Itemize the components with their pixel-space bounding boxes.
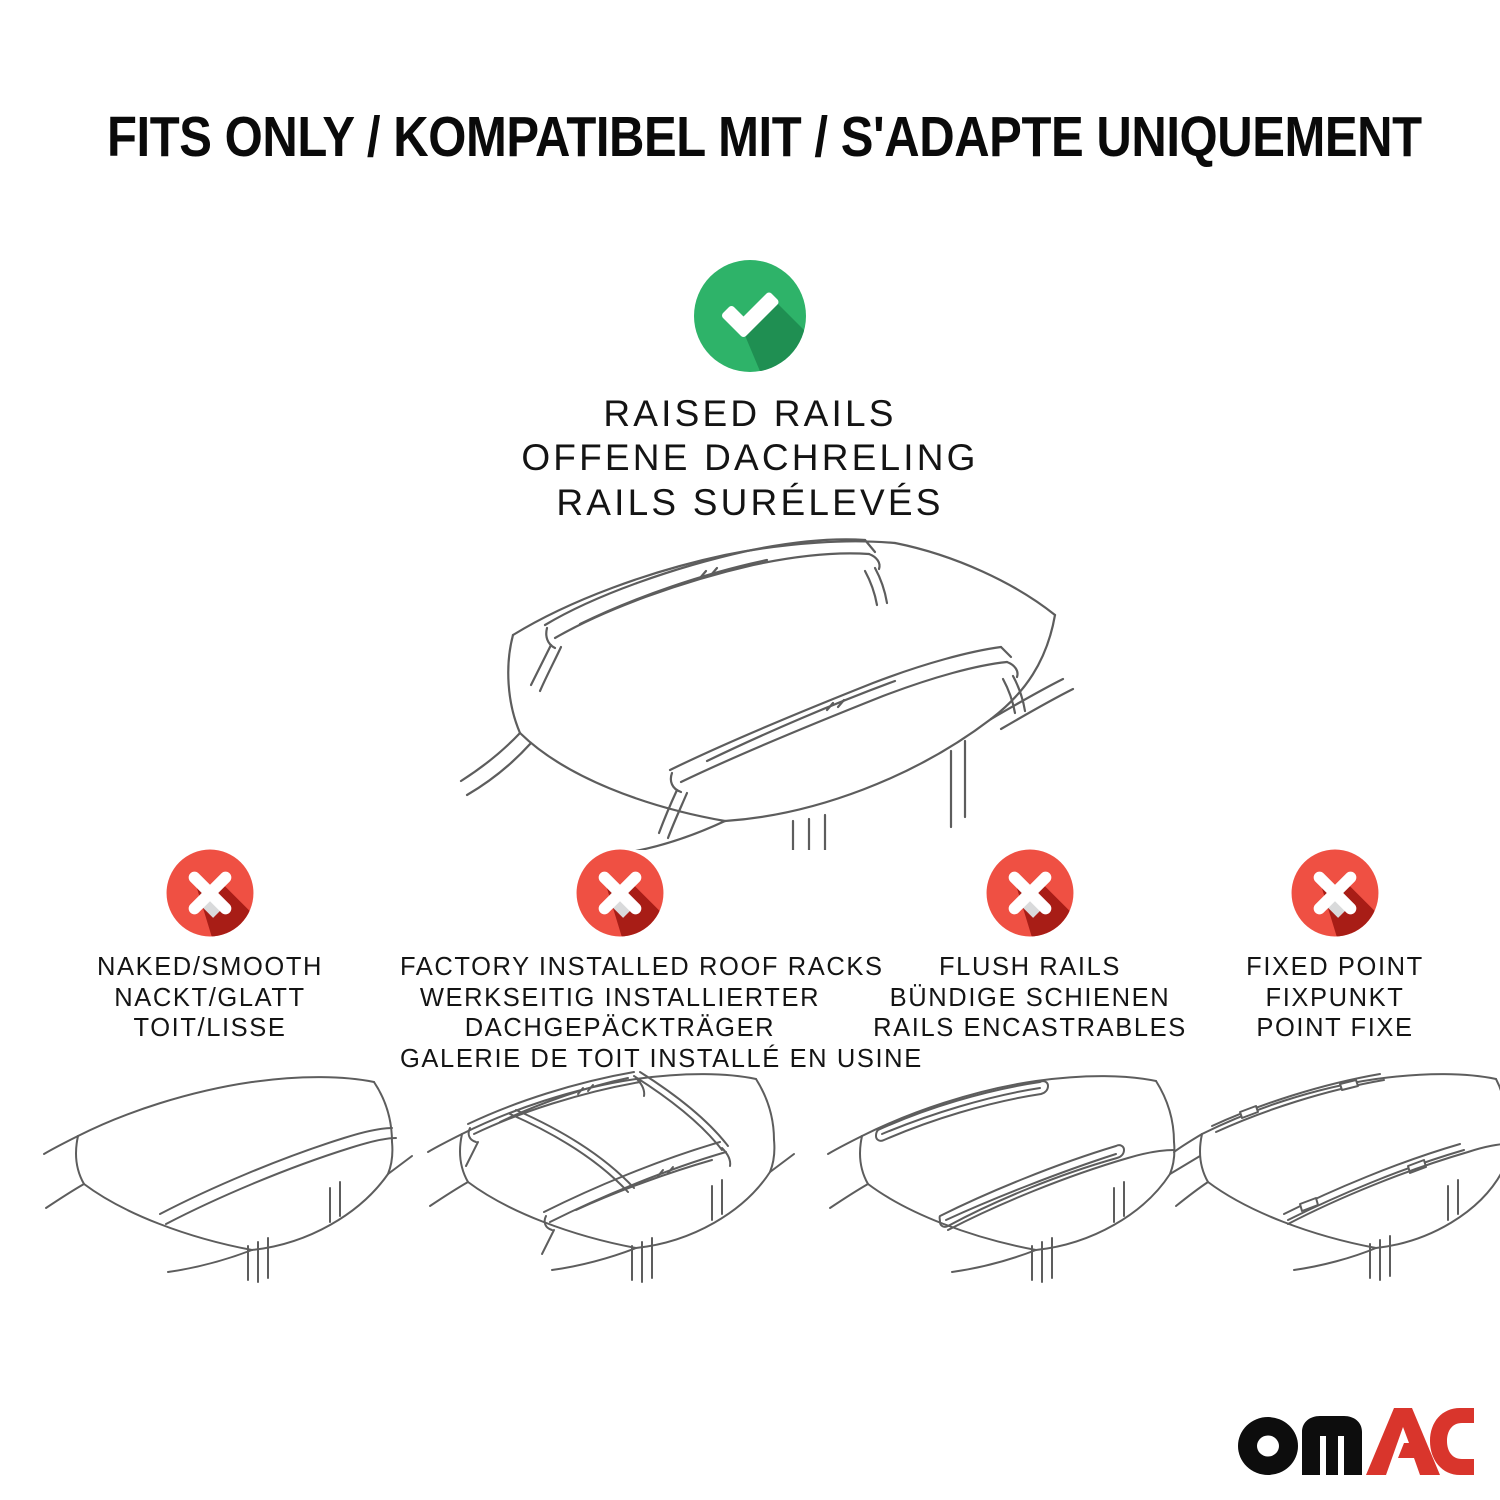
- column-caption: FACTORY INSTALLED ROOF RACKS WERKSEITIG …: [400, 952, 840, 1074]
- caption-line-fr: TOIT/LISSE: [25, 1013, 395, 1044]
- page-title-text: FITS ONLY / KOMPATIBEL MIT / S'ADAPTE UN…: [107, 104, 1422, 170]
- logo-letter-m: [1302, 1416, 1362, 1475]
- incompatible-row: NAKED/SMOOTH NACKT/GLATT TOIT/LISSE: [0, 848, 1500, 1088]
- car-roof-factory-crossbars-illustration: [420, 1058, 805, 1293]
- car-roof-raised-rails-illustration: [395, 505, 1105, 850]
- caption-line-en: NAKED/SMOOTH: [25, 952, 395, 983]
- caption-line-en: FACTORY INSTALLED ROOF RACKS: [400, 952, 840, 983]
- caption-line-de: OFFENE DACHRELING: [370, 436, 1130, 480]
- car-roof-flush-rails-illustration: [822, 1058, 1207, 1293]
- caption-line-de: NACKT/GLATT: [25, 983, 395, 1014]
- incompatible-column-factory-racks: FACTORY INSTALLED ROOF RACKS WERKSEITIG …: [400, 848, 840, 1074]
- check-circle-badge: [370, 258, 1130, 374]
- incompatible-column-fixed-point: FIXED POINT FIXPUNKT POINT FIXE: [1190, 848, 1480, 1044]
- compatible-block: RAISED RAILS OFFENE DACHRELING RAILS SUR…: [370, 258, 1130, 525]
- cross-circle-badge: [400, 848, 840, 938]
- omac-logo: [1238, 1406, 1474, 1476]
- cross-circle-icon: [1290, 848, 1380, 938]
- car-roof-bare-illustration: [40, 1058, 415, 1293]
- caption-line-de: FIXPUNKT: [1190, 983, 1480, 1014]
- cross-circle-icon: [575, 848, 665, 938]
- caption-line-de: BÜNDIGE SCHIENEN: [845, 983, 1215, 1014]
- cross-circle-badge: [1190, 848, 1480, 938]
- check-circle-icon: [692, 258, 808, 374]
- caption-line-fr: RAILS ENCASTRABLES: [845, 1013, 1215, 1044]
- caption-line-de-1: WERKSEITIG INSTALLIERTER: [400, 983, 840, 1014]
- caption-line-en: FIXED POINT: [1190, 952, 1480, 983]
- page-title: FITS ONLY / KOMPATIBEL MIT / S'ADAPTE UN…: [0, 104, 1500, 170]
- caption-line-en: FLUSH RAILS: [845, 952, 1215, 983]
- car-roof-fixed-points-illustration: [1172, 1058, 1500, 1293]
- column-caption: NAKED/SMOOTH NACKT/GLATT TOIT/LISSE: [25, 952, 395, 1044]
- logo-letter-a: [1366, 1408, 1440, 1475]
- caption-line-de-2: DACHGEPÄCKTRÄGER: [400, 1013, 840, 1044]
- incompatible-column-naked-smooth: NAKED/SMOOTH NACKT/GLATT TOIT/LISSE: [25, 848, 395, 1044]
- cross-circle-badge: [25, 848, 395, 938]
- logo-letter-c: [1430, 1408, 1474, 1475]
- column-caption: FIXED POINT FIXPUNKT POINT FIXE: [1190, 952, 1480, 1044]
- cross-circle-badge: [845, 848, 1215, 938]
- column-caption: FLUSH RAILS BÜNDIGE SCHIENEN RAILS ENCAS…: [845, 952, 1215, 1044]
- incompatible-column-flush-rails: FLUSH RAILS BÜNDIGE SCHIENEN RAILS ENCAS…: [845, 848, 1215, 1044]
- caption-line-en: RAISED RAILS: [370, 392, 1130, 436]
- caption-line-fr: POINT FIXE: [1190, 1013, 1480, 1044]
- cross-circle-icon: [985, 848, 1075, 938]
- cross-circle-icon: [165, 848, 255, 938]
- logo-letter-o: [1238, 1417, 1298, 1475]
